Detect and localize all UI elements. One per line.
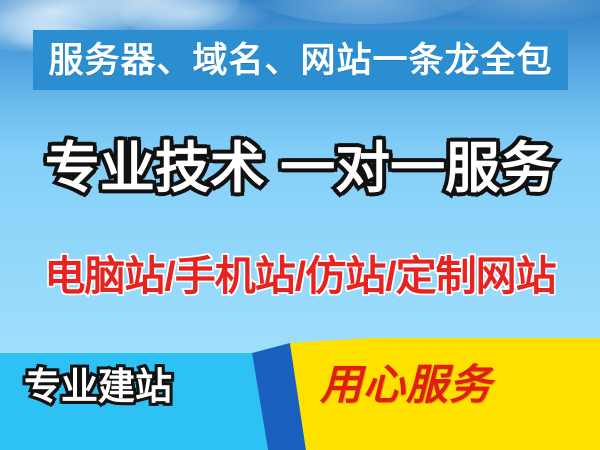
services-row: 电脑站/手机站/仿站/定制网站 — [0, 252, 600, 300]
tagline-text: 专业技术 一对一服务 — [45, 136, 555, 201]
footer-left-text: 专业建站 — [24, 368, 172, 405]
footer-right-text: 用心服务 — [320, 364, 492, 406]
headline-bar: 服务器、域名、网站一条龙全包 — [33, 30, 568, 90]
tagline-row: 专业技术 一对一服务 — [0, 136, 600, 201]
headline-text: 服务器、域名、网站一条龙全包 — [48, 43, 552, 78]
cloud-wisp-icon — [430, 0, 600, 22]
promo-poster: 服务器、域名、网站一条龙全包 专业技术 一对一服务 电脑站/手机站/仿站/定制网… — [0, 0, 600, 450]
footer-banner: 专业建站 用心服务 — [0, 338, 600, 450]
services-text: 电脑站/手机站/仿站/定制网站 — [44, 252, 555, 300]
cloud-wisp-icon — [250, 0, 480, 24]
